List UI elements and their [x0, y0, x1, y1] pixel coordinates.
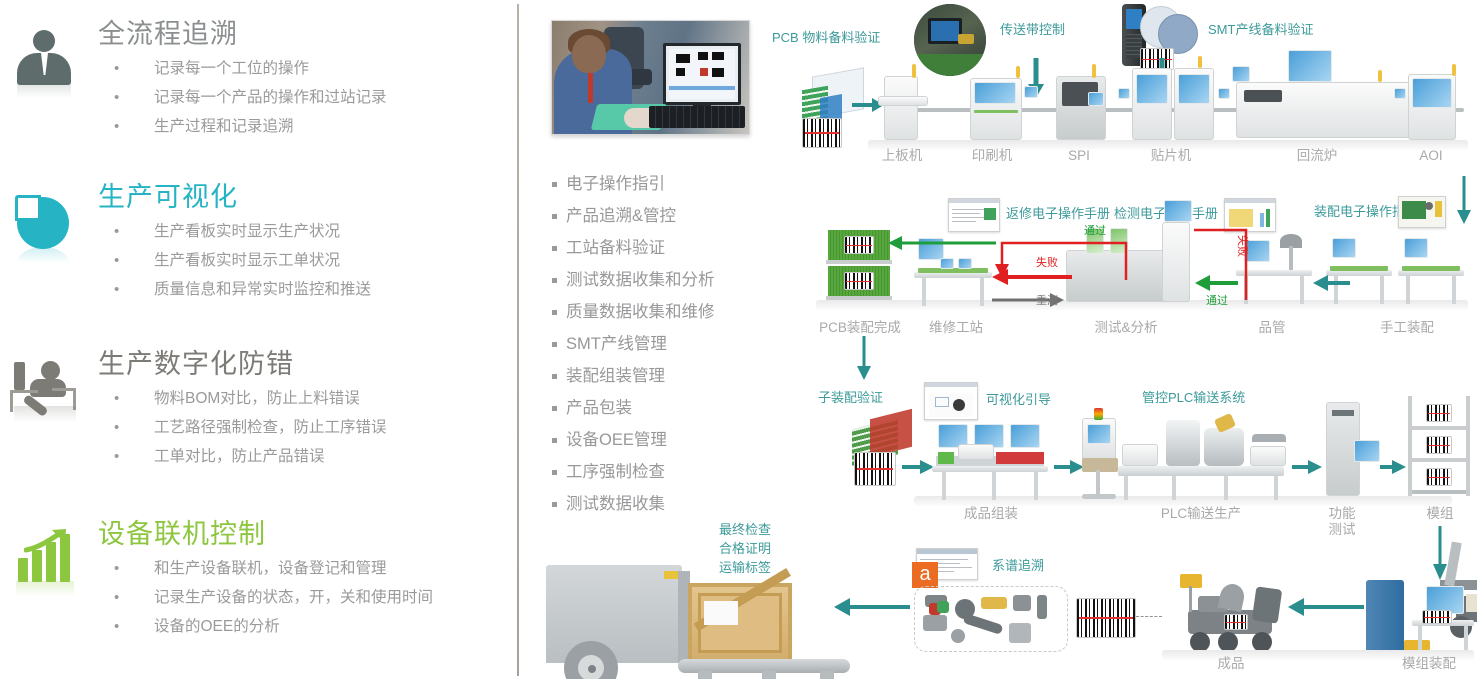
callout-plc-conveyor-system: 管控PLC输送系统 [1142, 390, 1245, 406]
qc-pass-arrow [1192, 274, 1240, 292]
parts-genealogy-box [914, 586, 1068, 652]
station-label: PLC输送生产 [1136, 506, 1266, 522]
final-assembly-bench [932, 466, 1048, 500]
crate-inbound-arrow [832, 598, 912, 616]
status-light [1092, 64, 1096, 78]
delivery-truck-icon [546, 565, 682, 663]
shipping-crate-icon [688, 583, 792, 663]
machine-screen [1024, 86, 1038, 98]
down-arrow-icon [854, 336, 874, 384]
dashed-link [1136, 616, 1162, 617]
person-at-desk-icon [8, 352, 82, 426]
feature-bullets: 生产看板实时显示生产状况 生产看板实时显示工单状况 质量信息和异常实时监控和推送 [98, 217, 508, 304]
machine-screen [1394, 88, 1406, 99]
feature-bullet: 设备的OEE的分析 [98, 612, 508, 641]
conveyor-control-photo [914, 4, 986, 76]
feature-title: 生产数字化防错 [98, 346, 508, 382]
bench-mat [1402, 266, 1460, 271]
callout-sub-assembly-verification: 子装配验证 [818, 390, 883, 406]
feature-bullet: 和生产设备联机，设备登记和管理 [98, 554, 508, 583]
feature-bullet: 生产过程和记录追溯 [98, 112, 508, 141]
machine-screen [1136, 74, 1168, 104]
bench-mat [918, 268, 988, 273]
flow-label-pass: 通过 [1084, 222, 1106, 238]
right-arrow-icon [902, 458, 936, 476]
list-item: 装配组装管理 [550, 360, 766, 392]
bench-screen [958, 258, 972, 269]
callout-rework-manual: 返修电子操作手册 [1006, 206, 1110, 222]
assembly-guide-thumbnail [1398, 196, 1446, 228]
conveyor-leg [698, 671, 712, 679]
machine-loader [884, 76, 918, 140]
station-label: 手工装配 [1362, 320, 1452, 336]
station-label: 上板机 [862, 148, 942, 164]
test-monitor [1164, 200, 1192, 222]
machine-screen [1118, 88, 1130, 99]
oven-panel [1244, 90, 1282, 102]
machine-screen [974, 82, 1016, 104]
flow-label-pass: 通过 [1206, 292, 1228, 308]
conveyor-module [1250, 446, 1286, 466]
conveyor-rail [974, 110, 1018, 113]
barcode-icon [854, 452, 896, 486]
status-light [1378, 70, 1382, 82]
feature-bullet: 生产看板实时显示工单状况 [98, 246, 508, 275]
visual-guide-thumbnail [924, 382, 978, 420]
right-arrow-icon [1380, 458, 1408, 476]
machine-screen [1232, 66, 1250, 82]
callout-visual-guidance: 可视化引导 [986, 392, 1051, 408]
conveyor-module [1122, 444, 1158, 466]
station-label: 模组 [1410, 506, 1470, 522]
callout-final-inspection: 最终检查 合格证明 运输标签 [702, 520, 788, 577]
module-shelf [1408, 396, 1470, 496]
packaging-group: 最终检查 合格证明 运输标签 [530, 515, 780, 679]
assembly-bench-2 [1398, 270, 1464, 304]
blue-cabinet-icon [1366, 580, 1404, 656]
station-label: 成品组装 [948, 506, 1034, 522]
feature-bullet: 物料BOM对比，防止上料错误 [98, 384, 508, 413]
status-light [912, 64, 916, 78]
pcb-magazine-rack [826, 228, 892, 300]
production-flow-diagram: PCB 物料备料验证 传送带控制 SMT产线备料验证 [766, 0, 1477, 679]
flow-label-fail: 失败 [1036, 254, 1058, 270]
vertical-divider [517, 4, 519, 676]
station-label: PCB装配完成 [810, 320, 910, 336]
module-bench [1412, 620, 1474, 654]
loader-arm [878, 96, 928, 106]
station-label: 印刷机 [952, 148, 1032, 164]
rework-bench [914, 272, 992, 306]
growth-arrow-icon [24, 528, 72, 554]
station-label: 品管 [1232, 320, 1312, 336]
list-item: 工站备料验证 [550, 232, 766, 264]
machine-screen [1412, 78, 1452, 108]
qc-lamp-stand [1289, 246, 1293, 270]
businessperson-icon [8, 22, 82, 96]
station-label: AOI [1396, 148, 1466, 164]
list-item: 测试数据收集和分析 [550, 264, 766, 296]
red-doc-icon [870, 409, 912, 457]
bench-mat [1330, 266, 1388, 271]
status-light [1452, 64, 1456, 76]
slide-root: 全流程追溯 记录每一个工位的操作 记录每一个产品的操作和过站记录 生产过程和记录… [0, 0, 1477, 679]
list-item: 工序强制检查 [550, 456, 766, 488]
list-item: 质量数据收集和维修 [550, 296, 766, 328]
pie-chart-icon [8, 185, 82, 259]
machine-screen [1088, 92, 1104, 106]
assembly-monitor [1404, 238, 1428, 258]
capability-list: 电子操作指引 产品追溯&管控 工站备料验证 测试数据收集和分析 质量数据收集和维… [550, 168, 766, 520]
assembly-to-qc-arrow [1312, 274, 1352, 292]
bar-chart-growth-icon [8, 522, 82, 596]
a-app-icon: a [912, 562, 938, 588]
station-label: 贴片机 [1128, 148, 1214, 164]
list-item: 产品追溯&管控 [550, 200, 766, 232]
callout-assembly-guide: 装配电子操作指引 [1314, 204, 1392, 220]
down-arrow-icon [1454, 176, 1474, 226]
pass-to-rack-arrow [884, 236, 996, 252]
barcode-icon [1422, 610, 1452, 624]
bench-screen [940, 258, 954, 269]
station-label: 维修工站 [916, 320, 996, 336]
conveyor-leg [820, 671, 834, 679]
feature-bullet: 工艺路径强制检查，防止工序错误 [98, 413, 508, 442]
list-item: SMT产线管理 [550, 328, 766, 360]
feature-bullets: 物料BOM对比，防止上料错误 工艺路径强制检查，防止工序错误 工单对比，防止产品… [98, 384, 508, 471]
test-monitor [1354, 440, 1380, 462]
conveyor-leg [762, 671, 776, 679]
robot-arm-icon [1204, 428, 1244, 466]
bench-part-green [938, 452, 954, 464]
callout-smt-material-verification: SMT产线备料验证 [1208, 22, 1313, 38]
kiosk-stand [1096, 470, 1100, 496]
list-item: 产品包装 [550, 392, 766, 424]
plc-screen [1087, 424, 1111, 444]
feature-bullet: 工单对比，防止产品错误 [98, 442, 508, 471]
barcode-icon [1076, 598, 1136, 638]
callout-genealogy-traceability: 系谱追溯 [992, 558, 1044, 574]
list-item: 设备OEE管理 [550, 424, 766, 456]
feature-bullets: 记录每一个工位的操作 记录每一个产品的操作和过站记录 生产过程和记录追溯 [98, 54, 508, 141]
features-panel: 全流程追溯 记录每一个工位的操作 记录每一个产品的操作和过站记录 生产过程和记录… [0, 0, 517, 679]
feature-title: 全流程追溯 [98, 16, 508, 52]
feature-bullet: 记录生产设备的状态，开，关和使用时间 [98, 583, 508, 612]
machine-screen [1178, 74, 1210, 104]
operator-workstation-photo [551, 20, 750, 135]
station-label: 模组装配 [1374, 656, 1477, 672]
reflow-monitor [1288, 50, 1332, 82]
rack-vent [1332, 410, 1354, 416]
assembly-monitor [1332, 238, 1356, 258]
bench-fixture [958, 444, 994, 460]
list-item: 电子操作指引 [550, 168, 766, 200]
callout-conveyor-control: 传送带控制 [1000, 22, 1065, 38]
assembly-monitor [1010, 424, 1040, 448]
machine-screen [1218, 88, 1230, 99]
kiosk-base [1082, 494, 1116, 499]
status-light [1198, 56, 1202, 68]
station-label: 测试&分析 [1076, 320, 1176, 336]
kiosk-tray [1082, 458, 1118, 472]
right-arrow-icon [1292, 458, 1324, 476]
bench-part-red [996, 452, 1044, 464]
feature-title: 设备联机控制 [98, 516, 508, 552]
fixture-icon [1252, 434, 1286, 442]
plc-conveyor-frame [1118, 466, 1284, 498]
fail-arrow [988, 268, 1074, 286]
stack-light-icon [1094, 408, 1103, 420]
feature-bullet: 质量信息和异常实时监控和推送 [98, 275, 508, 304]
station-label: 回流炉 [1274, 148, 1360, 164]
finished-product-vehicle [1162, 570, 1292, 652]
test-tower [1162, 222, 1190, 302]
flow-label-retest: 重测 [1036, 292, 1058, 308]
station-label: SPI [1044, 148, 1114, 164]
feature-title: 生产可视化 [98, 179, 508, 215]
barcode-icon [802, 118, 842, 148]
press-unit-icon [1166, 420, 1200, 466]
flow-label-fail: 失败 [1235, 235, 1251, 257]
feature-bullets: 和生产设备联机，设备登记和管理 记录生产设备的状态，开，关和使用时间 设备的OE… [98, 554, 508, 641]
station-label: 成品 [1186, 656, 1276, 672]
feature-bullet: 记录每一个产品的操作和过站记录 [98, 83, 508, 112]
feature-bullet: 记录每一个工位的操作 [98, 54, 508, 83]
left-arrow-icon [1286, 598, 1366, 616]
station-label: 功能 测试 [1312, 506, 1372, 538]
rework-manual-thumbnail [948, 198, 1000, 232]
callout-pcb-material-verification: PCB 物料备料验证 [772, 30, 877, 46]
feature-bullet: 生产看板实时显示生产状况 [98, 217, 508, 246]
status-light [1016, 66, 1020, 78]
